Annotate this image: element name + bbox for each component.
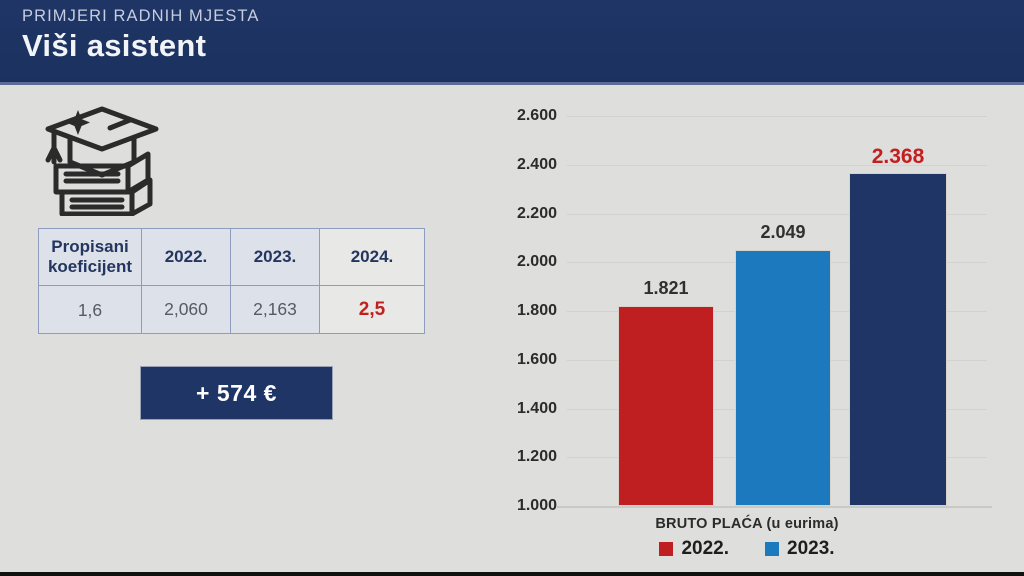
legend-swatch-2022 — [659, 542, 673, 556]
chart-axis-title: BRUTO PLAĆA (u eurima) — [497, 516, 997, 532]
coefficient-table: Propisani koeficijent 2022. 2023. 2024. … — [38, 228, 425, 334]
bar-2024 — [849, 173, 947, 506]
y-axis-tick-label: 1.600 — [487, 351, 557, 369]
table-cell-coefficient: 1,6 — [39, 286, 142, 334]
table-cell-2023: 2,163 — [231, 286, 320, 334]
graduation-cap-books-icon — [32, 96, 177, 216]
table-header-2023: 2023. — [231, 229, 320, 286]
header-accent-line — [0, 82, 1024, 85]
y-axis-tick-label: 1.400 — [487, 400, 557, 418]
table-header-2022: 2022. — [142, 229, 231, 286]
increase-badge: + 574 € — [140, 366, 333, 420]
bar-label-2024: 2.368 — [849, 145, 947, 169]
bar-label-2023: 2.049 — [735, 222, 831, 243]
y-axis-tick-label: 2.200 — [487, 205, 557, 223]
table-row: 1,6 2,060 2,163 2,5 — [39, 286, 425, 334]
chart-baseline — [557, 506, 992, 508]
table-header-coefficient: Propisani koeficijent — [39, 229, 142, 286]
y-axis-tick-label: 2.600 — [487, 107, 557, 125]
bottom-letterbox-band — [0, 572, 1024, 576]
table-header-2024: 2024. — [320, 229, 425, 286]
y-axis-tick-label: 1.000 — [487, 497, 557, 515]
header-kicker: PRIMJERI RADNIH MJESTA — [22, 7, 260, 26]
bar-2022 — [618, 306, 714, 506]
y-axis-tick-label: 2.400 — [487, 156, 557, 174]
bar-label-2022: 1.821 — [618, 278, 714, 299]
table-cell-2024: 2,5 — [320, 286, 425, 334]
legend-item-2023: 2023. — [765, 538, 835, 560]
legend-label-2022: 2022. — [681, 538, 729, 560]
table-header-row: Propisani koeficijent 2022. 2023. 2024. — [39, 229, 425, 286]
chart-legend: 2022. 2023. — [497, 538, 997, 560]
table-cell-2022: 2,060 — [142, 286, 231, 334]
bar-chart: 2.6002.4002.2002.0001.8001.6001.4001.200… — [497, 96, 997, 516]
bar-2023 — [735, 250, 831, 506]
y-axis-tick-label: 1.800 — [487, 302, 557, 320]
y-axis-tick-label: 1.200 — [487, 448, 557, 466]
y-axis-tick-label: 2.000 — [487, 253, 557, 271]
legend-label-2023: 2023. — [787, 538, 835, 560]
gridline — [567, 116, 987, 117]
page-title: Viši asistent — [22, 28, 206, 64]
legend-swatch-2023 — [765, 542, 779, 556]
legend-item-2022: 2022. — [659, 538, 729, 560]
